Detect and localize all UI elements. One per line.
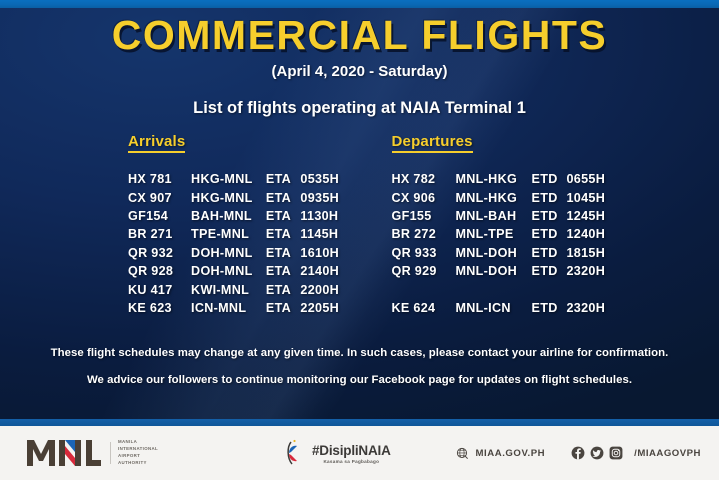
flight-route: MNL-BAH bbox=[456, 209, 532, 223]
time-label: ETA bbox=[266, 172, 300, 186]
time-label: ETD bbox=[532, 227, 567, 241]
arrivals-column: Arrivals HX 781HKG-MNLETA0535HCX 907HKG-… bbox=[0, 133, 360, 317]
footer-center-group: #DisipliNAIA Kasama sa Pagbabago bbox=[286, 438, 391, 468]
philippine-flag-swoosh-icon bbox=[286, 438, 310, 468]
flight-route: DOH-MNL bbox=[191, 264, 266, 278]
facebook-icon[interactable] bbox=[571, 446, 585, 460]
page-title: COMMERCIAL FLIGHTS bbox=[0, 14, 719, 57]
org-line-2: INTERNATIONAL bbox=[118, 446, 158, 453]
flight-time: 0655H bbox=[567, 172, 627, 186]
table-row: HX 781HKG-MNLETA0535H bbox=[128, 170, 360, 188]
flight-time: 2205H bbox=[300, 301, 359, 315]
departures-row-list: HX 782MNL-HKGETD0655HCX 906MNL-HKGETD104… bbox=[392, 170, 719, 317]
twitter-icon[interactable] bbox=[590, 446, 604, 460]
flight-time: 2140H bbox=[300, 264, 359, 278]
departures-heading: Departures bbox=[392, 133, 473, 153]
disiplinaia-tagline: Kasama sa Pagbabago bbox=[323, 459, 379, 464]
poster-header: COMMERCIAL FLIGHTS (April 4, 2020 - Satu… bbox=[0, 14, 719, 118]
table-row: QR 929MNL-DOHETD2320H bbox=[392, 262, 719, 280]
flight-time: 1610H bbox=[300, 246, 359, 260]
flight-information-poster: COMMERCIAL FLIGHTS (April 4, 2020 - Satu… bbox=[0, 0, 719, 480]
flight-number: GF155 bbox=[392, 209, 456, 223]
table-row: GF155MNL-BAHETD1245H bbox=[392, 207, 719, 225]
table-row: QR 933MNL-DOHETD1815H bbox=[392, 244, 719, 262]
arrivals-row-list: HX 781HKG-MNLETA0535HCX 907HKG-MNLETA093… bbox=[128, 170, 360, 317]
time-label: ETA bbox=[266, 301, 300, 315]
top-accent-bar bbox=[0, 0, 719, 8]
flight-route: MNL-DOH bbox=[456, 264, 532, 278]
flight-route: TPE-MNL bbox=[191, 227, 266, 241]
table-row: KE 624MNL-ICNETD2320H bbox=[392, 299, 719, 317]
table-row: QR 932DOH-MNLETA1610H bbox=[128, 244, 360, 262]
disclaimer-line-2: We advice our followers to continue moni… bbox=[0, 375, 719, 387]
flight-route: MNL-ICN bbox=[456, 301, 532, 315]
flight-route: DOH-MNL bbox=[191, 246, 266, 260]
social-icon-group: /MIAAGOVPH bbox=[571, 446, 701, 460]
flight-number: HX 782 bbox=[392, 172, 456, 186]
flight-number: KE 623 bbox=[128, 301, 191, 315]
table-row: GF154BAH-MNLETA1130H bbox=[128, 207, 360, 225]
footer-right-group: MIAA.GOV.PH /MIAAGOVPH bbox=[456, 446, 701, 460]
flight-number: CX 906 bbox=[392, 191, 456, 205]
table-row: QR 928DOH-MNLETA2140H bbox=[128, 262, 360, 280]
flight-number: GF154 bbox=[128, 209, 191, 223]
org-line-4: AUTHORITY bbox=[118, 460, 158, 467]
time-label: ETA bbox=[266, 191, 300, 205]
arrivals-heading: Arrivals bbox=[128, 133, 185, 153]
departures-column: Departures HX 782MNL-HKGETD0655HCX 906MN… bbox=[360, 133, 719, 317]
time-label: ETD bbox=[532, 209, 567, 223]
table-row: KE 623ICN-MNLETA2205H bbox=[128, 299, 360, 317]
flight-time: 1240H bbox=[567, 227, 627, 241]
disiplinaia-text: #DisipliNAIA Kasama sa Pagbabago bbox=[312, 443, 391, 464]
table-row: CX 906MNL-HKGETD1045H bbox=[392, 188, 719, 206]
time-label: ETD bbox=[532, 172, 567, 186]
flight-number: BR 272 bbox=[392, 227, 456, 241]
poster-footer: MANILA INTERNATIONAL AIRPORT AUTHORITY #… bbox=[0, 426, 719, 480]
flight-number: BR 271 bbox=[128, 227, 191, 241]
disclaimer-notice: These flight schedules may change at any… bbox=[0, 348, 719, 387]
flight-route: MNL-TPE bbox=[456, 227, 532, 241]
time-label: ETA bbox=[266, 209, 300, 223]
flight-route: HKG-MNL bbox=[191, 172, 266, 186]
flight-number: QR 932 bbox=[128, 246, 191, 260]
org-line-1: MANILA bbox=[118, 439, 158, 446]
flight-number: KE 624 bbox=[392, 301, 456, 315]
page-subtitle-date: (April 4, 2020 - Saturday) bbox=[0, 63, 719, 80]
table-row: CX 907HKG-MNLETA0935H bbox=[128, 188, 360, 206]
time-label: ETA bbox=[266, 283, 300, 297]
flight-number: QR 928 bbox=[128, 264, 191, 278]
table-row: BR 272MNL-TPEETD1240H bbox=[392, 225, 719, 243]
disclaimer-line-1: These flight schedules may change at any… bbox=[0, 348, 719, 360]
mnl-logomark-icon bbox=[26, 437, 102, 469]
flight-time: 1130H bbox=[300, 209, 359, 223]
social-handle-label: /MIAAGOVPH bbox=[634, 448, 701, 459]
time-label: ETD bbox=[532, 246, 567, 260]
flight-number: KU 417 bbox=[128, 283, 191, 297]
flight-time: 2320H bbox=[567, 264, 627, 278]
logo-divider bbox=[110, 442, 111, 464]
flight-route: BAH-MNL bbox=[191, 209, 266, 223]
flight-time: 0535H bbox=[300, 172, 359, 186]
flight-time: 1245H bbox=[567, 209, 627, 223]
time-label: ETD bbox=[532, 301, 567, 315]
table-row: HX 782MNL-HKGETD0655H bbox=[392, 170, 719, 188]
flight-board: Arrivals HX 781HKG-MNLETA0535HCX 907HKG-… bbox=[0, 133, 719, 317]
flight-route: KWI-MNL bbox=[191, 283, 266, 297]
globe-icon bbox=[456, 447, 469, 460]
org-line-3: AIRPORT bbox=[118, 453, 158, 460]
website-label: MIAA.GOV.PH bbox=[475, 448, 545, 459]
flight-number: QR 929 bbox=[392, 264, 456, 278]
flight-number: CX 907 bbox=[128, 191, 191, 205]
time-label: ETD bbox=[532, 191, 567, 205]
flight-time: 1145H bbox=[300, 227, 359, 241]
flight-time: 1045H bbox=[567, 191, 627, 205]
time-label: ETA bbox=[266, 227, 300, 241]
mnl-logo: MANILA INTERNATIONAL AIRPORT AUTHORITY bbox=[26, 437, 158, 469]
flight-number: QR 933 bbox=[392, 246, 456, 260]
flight-route: MNL-HKG bbox=[456, 172, 532, 186]
table-row: KU 417KWI-MNLETA2200H bbox=[128, 280, 360, 298]
flight-route: MNL-DOH bbox=[456, 246, 532, 260]
flight-route: HKG-MNL bbox=[191, 191, 266, 205]
mnl-org-name: MANILA INTERNATIONAL AIRPORT AUTHORITY bbox=[118, 439, 158, 466]
time-label: ETA bbox=[266, 246, 300, 260]
flight-time: 0935H bbox=[300, 191, 359, 205]
flight-time: 2320H bbox=[567, 301, 627, 315]
terminal-description: List of flights operating at NAIA Termin… bbox=[0, 99, 719, 118]
footer-left-group: MANILA INTERNATIONAL AIRPORT AUTHORITY bbox=[26, 437, 158, 469]
table-row: BR 271TPE-MNLETA1145H bbox=[128, 225, 360, 243]
flight-number: HX 781 bbox=[128, 172, 191, 186]
time-label: ETA bbox=[266, 264, 300, 278]
disiplinaia-campaign-logo: #DisipliNAIA Kasama sa Pagbabago bbox=[286, 438, 391, 468]
flight-route: ICN-MNL bbox=[191, 301, 266, 315]
disiplinaia-hashtag: #DisipliNAIA bbox=[312, 443, 391, 458]
flight-route: MNL-HKG bbox=[456, 191, 532, 205]
flight-time: 2200H bbox=[300, 283, 359, 297]
time-label: ETD bbox=[532, 264, 567, 278]
website-group[interactable]: MIAA.GOV.PH bbox=[456, 447, 545, 460]
flight-time: 1815H bbox=[567, 246, 627, 260]
footer-accent-band bbox=[0, 419, 719, 426]
instagram-icon[interactable] bbox=[609, 446, 623, 460]
